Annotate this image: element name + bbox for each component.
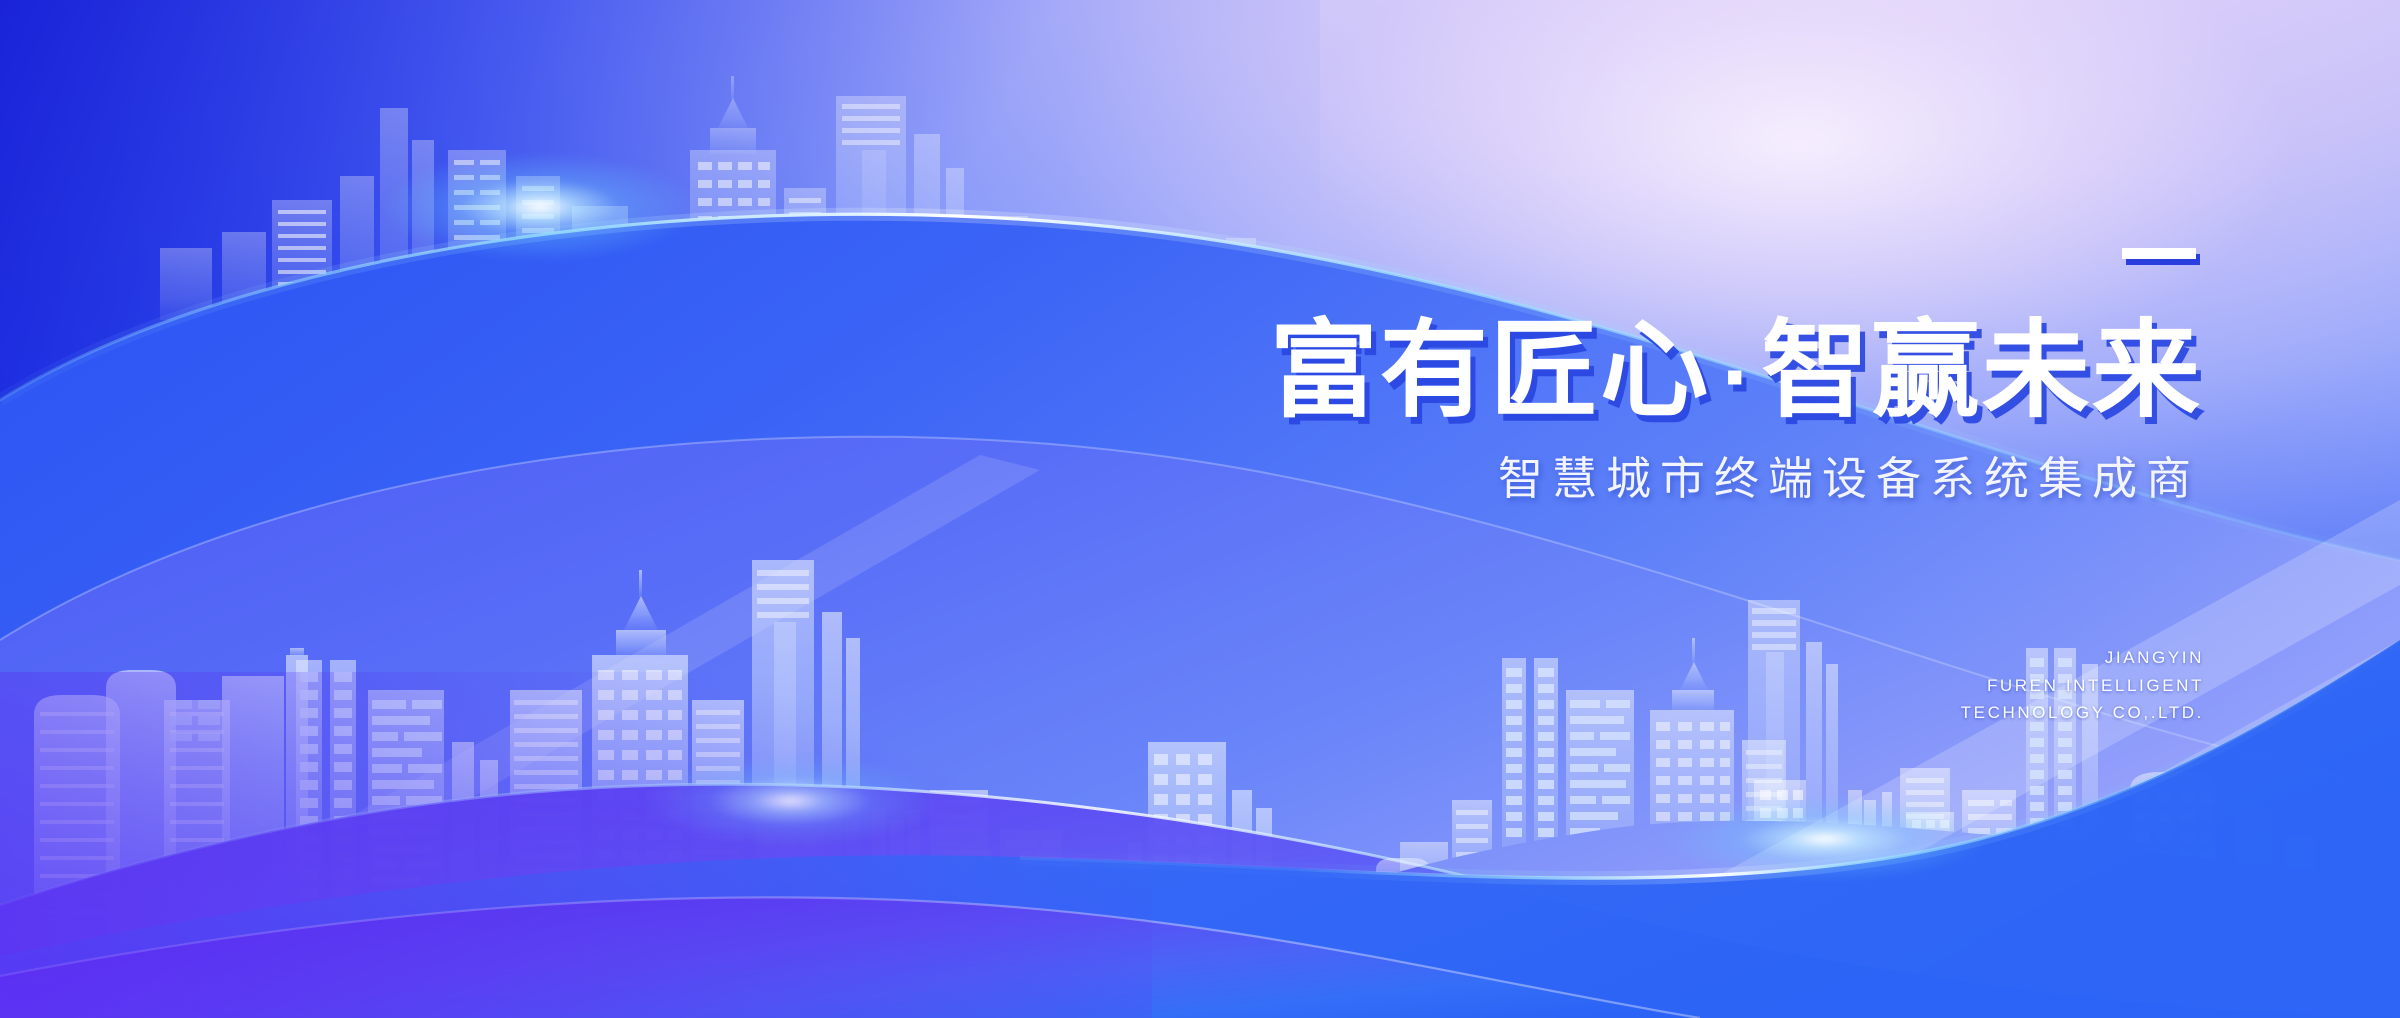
headline-left: 富有匠心 [1270, 309, 1711, 432]
page-title: 富有匠心·智赢未来 [1007, 318, 2202, 424]
company-line-3: TECHNOLOGY CO,.LTD. [1961, 699, 2204, 727]
company-line-1: JIANGYIN [1961, 644, 2204, 672]
headline-right: 智赢未来 [1761, 309, 2202, 432]
page-subtitle: 智慧城市终端设备系统集成商 [1030, 454, 2202, 504]
company-name-block: JIANGYIN FUREN INTELLIGENT TECHNOLOGY CO… [1961, 644, 2204, 727]
headline-separator-dot-icon: · [1710, 335, 1761, 421]
company-line-2: FUREN INTELLIGENT [1961, 672, 2204, 700]
wave-band-bottom-violet [0, 0, 2400, 1018]
headline-block: 富有匠心·智赢未来 智慧城市终端设备系统集成商 [1030, 248, 2202, 504]
banner-canvas: 富有匠心·智赢未来 智慧城市终端设备系统集成商 JIANGYIN FUREN I… [0, 0, 2400, 1018]
accent-dash-icon [2122, 248, 2196, 259]
